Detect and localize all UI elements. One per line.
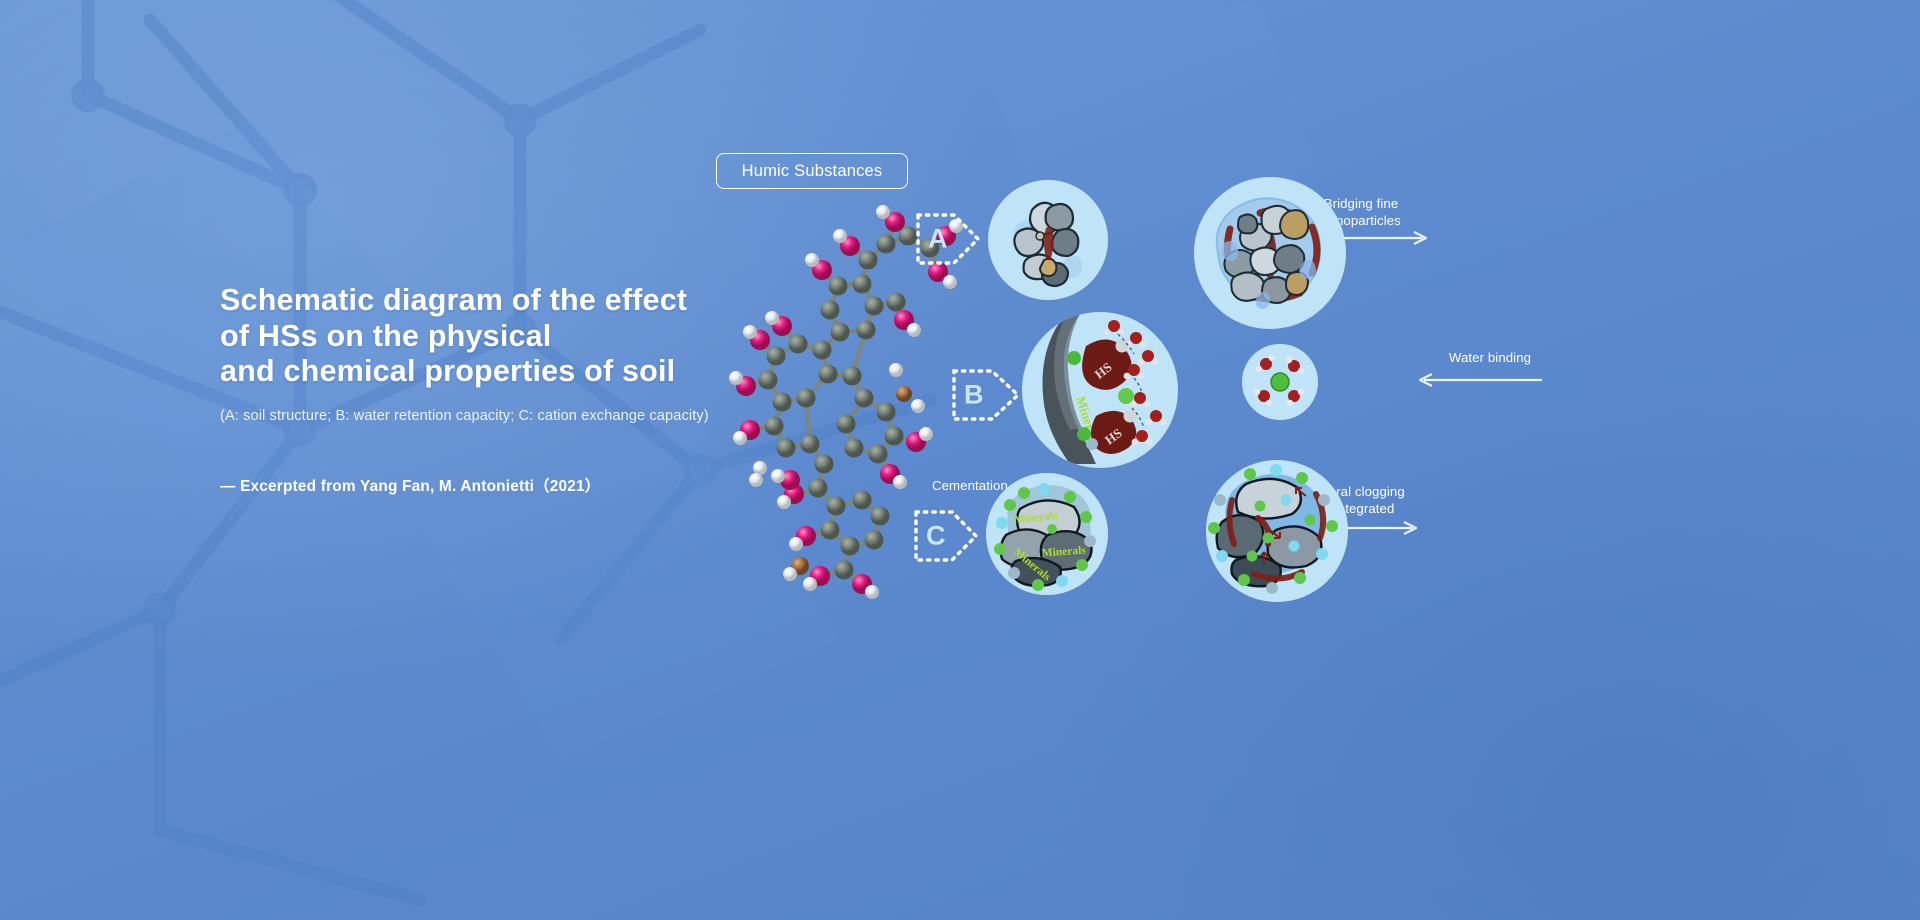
- row-marker-a: A: [928, 226, 948, 253]
- row-marker-c: C: [926, 523, 946, 550]
- flow-label-b-line1: Water binding: [1422, 350, 1558, 367]
- cementation-text: Cementation: [932, 478, 1008, 493]
- chevron-label-c: C: [912, 498, 980, 574]
- circle-soil-aggregate-bridged: [1194, 177, 1346, 329]
- flow-arrow-b: [1414, 370, 1544, 390]
- humic-substances-text: Humic Substances: [742, 162, 883, 181]
- circle-hydrated-cation: [1242, 344, 1318, 420]
- chevron-label-b: B: [950, 355, 1022, 435]
- circle-humic-mineral-water: Minerals HS HS: [1022, 312, 1178, 468]
- circle-soil-aggregate-loose: [988, 180, 1108, 300]
- circle-mineral-disintegrated: [1206, 460, 1348, 602]
- row-marker-b: B: [964, 382, 984, 409]
- circle-mineral-cemented: Minerals Minerals Minerals: [986, 473, 1108, 595]
- cation-sphere: [1271, 373, 1289, 391]
- cementation-label: Cementation: [932, 478, 1008, 493]
- flow-label-b: Water binding: [1422, 350, 1558, 367]
- poster-canvas: Schematic diagram of the effect of HSs o…: [0, 0, 1920, 920]
- chevron-label-a: A: [914, 201, 982, 277]
- attribution-text: — Excerpted from Yang Fan, M. Antonietti: [220, 478, 534, 495]
- attribution-year: （2021）: [534, 478, 600, 495]
